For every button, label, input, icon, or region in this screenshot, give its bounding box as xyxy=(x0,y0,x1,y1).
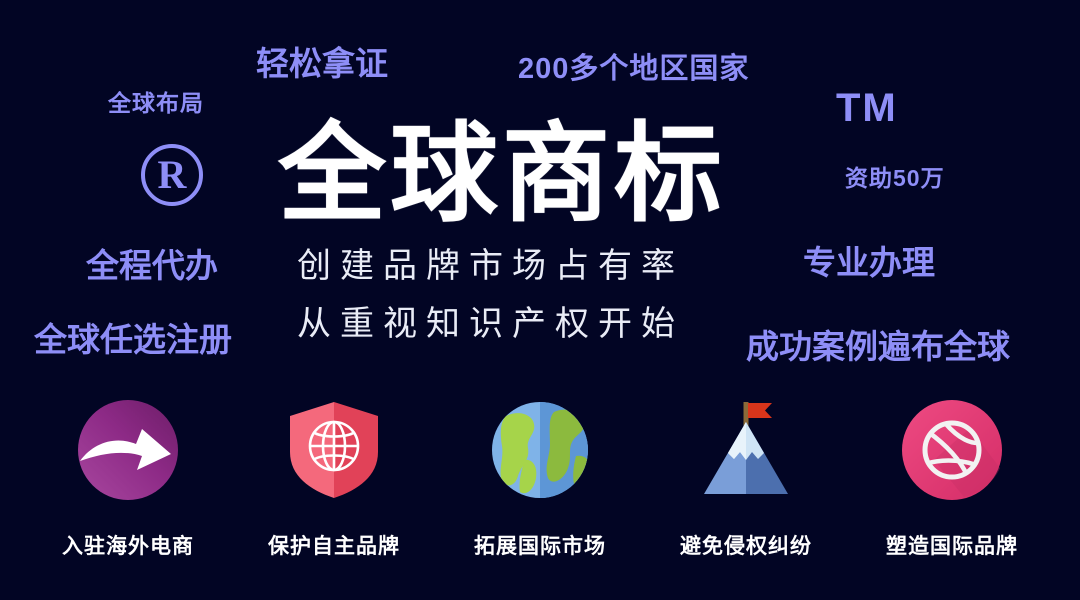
keyword-easy-certificate: 轻松拿证 xyxy=(256,47,388,80)
mountain-flag-icon xyxy=(694,398,798,502)
feature-build-international-brand[interactable]: 塑造国际品牌 xyxy=(862,398,1042,560)
feature-overseas-ecommerce[interactable]: 入驻海外电商 xyxy=(38,398,218,560)
subtitle-line-2: 从重视知识产权开始 xyxy=(297,307,684,341)
feature-label: 避免侵权纠纷 xyxy=(680,530,812,560)
feature-label: 塑造国际品牌 xyxy=(886,530,1018,560)
feature-avoid-infringement[interactable]: 避免侵权纠纷 xyxy=(656,398,836,560)
feature-label: 拓展国际市场 xyxy=(474,530,606,560)
feature-row: 入驻海外电商 保护自主品牌 xyxy=(0,398,1080,560)
keyword-subsidy: 资助50万 xyxy=(845,167,945,190)
dribbble-ball-circle-icon xyxy=(900,398,1004,502)
keyword-countries-count: 200多个地区国家 xyxy=(518,55,749,84)
feature-protect-own-brand[interactable]: 保护自主品牌 xyxy=(244,398,424,560)
keyword-global-register: 全球任选注册 xyxy=(34,323,232,356)
feature-label: 入驻海外电商 xyxy=(62,530,194,560)
promo-banner: 全球布局 轻松拿证 200多个地区国家 TM R 资助50万 全球商标 创建品牌… xyxy=(0,0,1080,600)
subtitle-line-1: 创建品牌市场占有率 xyxy=(297,249,684,283)
curved-arrow-circle-icon xyxy=(76,398,180,502)
feature-label: 保护自主品牌 xyxy=(268,530,400,560)
shield-globe-icon xyxy=(282,398,386,502)
feature-expand-international-market[interactable]: 拓展国际市场 xyxy=(450,398,630,560)
keyword-full-agency: 全程代办 xyxy=(86,249,218,282)
page-title: 全球商标 xyxy=(278,120,726,228)
earth-globe-icon xyxy=(488,398,592,502)
keyword-global-layout: 全球布局 xyxy=(108,92,204,115)
keyword-success-worldwide: 成功案例遍布全球 xyxy=(746,330,1010,363)
trademark-mark: TM xyxy=(836,86,898,131)
registered-mark: R xyxy=(141,144,203,206)
keyword-professional: 专业办理 xyxy=(803,246,935,279)
